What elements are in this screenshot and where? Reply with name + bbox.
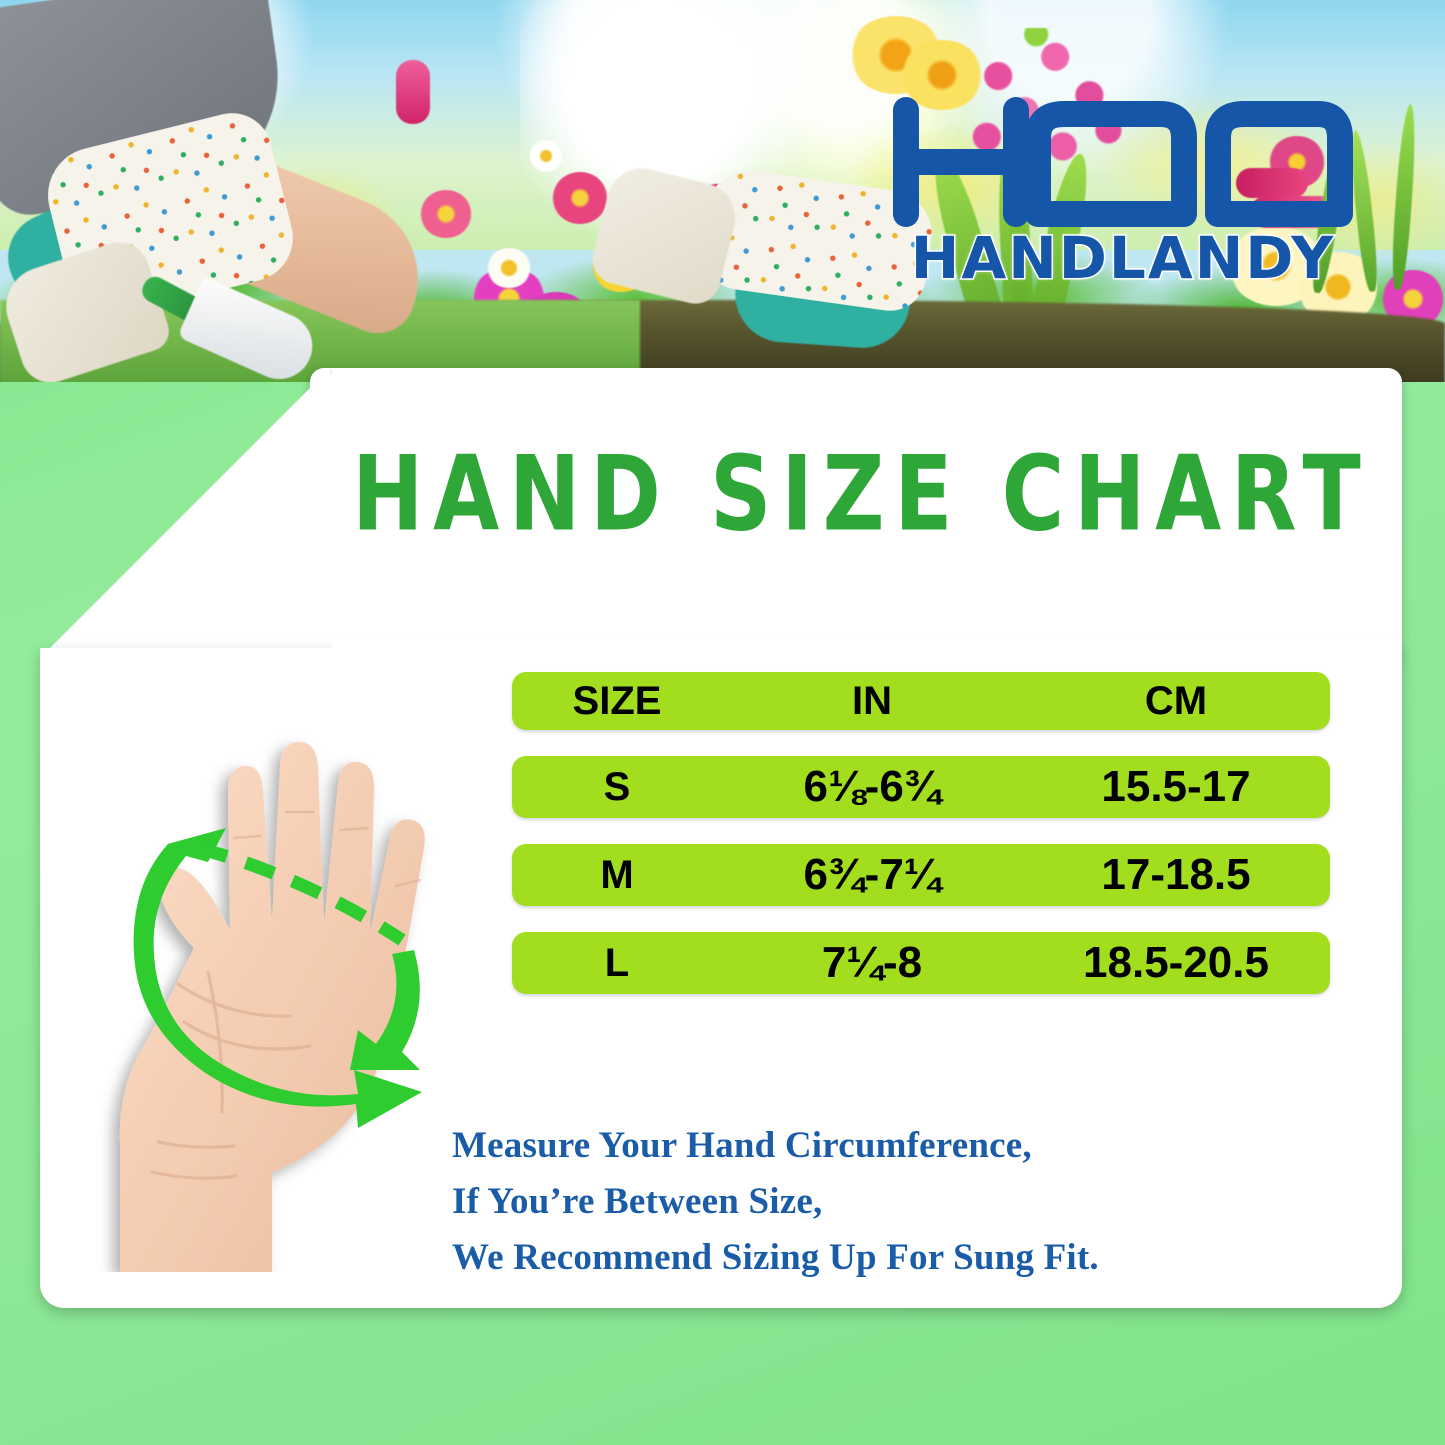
cell-centimeters: 15.5-17 — [1022, 762, 1330, 812]
brand-name: HANDLANDY — [892, 224, 1354, 292]
instruction-line-3: We Recommend Sizing Up For Sung Fit. — [452, 1230, 1332, 1286]
column-header-cm: CM — [1022, 679, 1330, 724]
table-header-row: SIZE IN CM — [512, 672, 1330, 730]
column-header-in: IN — [722, 679, 1022, 724]
flower-pink-small — [396, 60, 430, 124]
measuring-instructions: Measure Your Hand Circumference, If You’… — [452, 1118, 1332, 1286]
hd-monogram-icon — [888, 96, 1358, 236]
cell-centimeters: 18.5-20.5 — [1022, 938, 1330, 988]
column-header-size: SIZE — [512, 679, 722, 724]
open-palm-icon — [58, 672, 478, 1272]
cell-inches: 6⅛-6¾ — [722, 762, 1022, 812]
cell-inches: 7¼-8 — [722, 938, 1022, 988]
cell-inches: 6¾-7¼ — [722, 850, 1022, 900]
cell-size: M — [512, 853, 722, 898]
instruction-line-1: Measure Your Hand Circumference, — [452, 1118, 1332, 1174]
flower-white-daisy — [486, 248, 532, 288]
flower-white-daisy — [528, 140, 564, 172]
flower-pink-daisy — [420, 190, 472, 238]
hand-illustration — [58, 672, 478, 1272]
instruction-line-2: If You’re Between Size, — [452, 1174, 1332, 1230]
brand-logo: HANDLANDY — [888, 96, 1358, 286]
hand-size-chart-page: HANDLANDY HAND SIZE CHART — [0, 0, 1445, 1445]
table-row: L 7¼-8 18.5-20.5 — [512, 932, 1330, 994]
table-row: S 6⅛-6¾ 15.5-17 — [512, 756, 1330, 818]
table-row: M 6¾-7¼ 17-18.5 — [512, 844, 1330, 906]
size-table: SIZE IN CM S 6⅛-6¾ 15.5-17 M 6¾-7¼ 17-18… — [512, 672, 1330, 1020]
flower-pink-daisy — [552, 172, 608, 224]
page-title: HAND SIZE CHART — [352, 435, 1341, 553]
cell-size: S — [512, 765, 722, 810]
cell-size: L — [512, 941, 722, 986]
cell-centimeters: 17-18.5 — [1022, 850, 1330, 900]
card-seam — [332, 640, 1402, 664]
